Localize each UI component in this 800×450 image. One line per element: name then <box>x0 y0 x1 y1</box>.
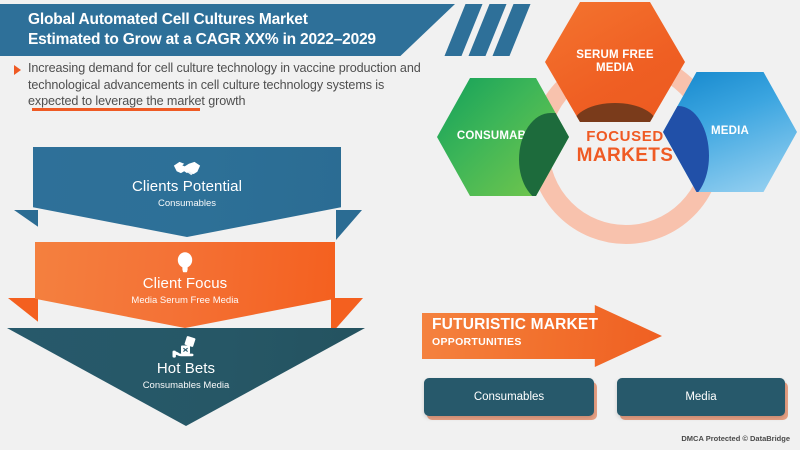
summary-bullet-text: Increasing demand for cell culture techn… <box>28 60 423 110</box>
bottom-box-consumables-wrapper: Consumables <box>424 378 594 416</box>
funnel-layer-1-title: Clients Potential <box>132 178 242 195</box>
futuristic-market-line-2: OPPORTUNITIES <box>432 336 642 348</box>
header-banner <box>0 4 455 56</box>
funnel-layer-client-focus[interactable]: Client Focus Media Serum Free Media <box>35 242 335 328</box>
hexagon-serum-label-line-2: MEDIA <box>596 62 634 74</box>
funnel-layer-1-wing-right <box>336 210 362 240</box>
futuristic-market-line-1: FUTURISTIC MARKET <box>432 316 642 334</box>
summary-bullet: Increasing demand for cell culture techn… <box>14 60 434 110</box>
hexagon-media-label: MEDIA <box>711 125 749 139</box>
handshake-icon <box>172 158 202 178</box>
dmca-footer-note: DMCA Protected © DataBridge <box>681 434 790 443</box>
bottom-box-consumables[interactable]: Consumables <box>424 378 594 416</box>
funnel-layer-3-title: Hot Bets <box>157 360 215 377</box>
infographic-canvas: Global Automated Cell Cultures Market Es… <box>0 0 800 450</box>
focused-markets-line-1: FOCUSED <box>560 128 690 145</box>
lightbulb-icon <box>175 251 195 275</box>
bullet-underline-rule <box>32 108 200 111</box>
funnel-diagram: Clients Potential Consumables Client Foc… <box>0 138 380 428</box>
bottom-box-consumables-label: Consumables <box>474 391 544 403</box>
funnel-layer-2-title: Client Focus <box>143 275 228 292</box>
funnel-layer-1-wing-left <box>14 210 38 238</box>
hexagon-serum-free-media-label: SERUM FREE MEDIA <box>576 49 653 76</box>
funnel-layer-2-wing-left <box>8 298 38 332</box>
focused-markets-line-2: MARKETS <box>560 145 690 166</box>
bottom-box-media[interactable]: Media <box>617 378 785 416</box>
funnel-layer-2-subtitle: Media Serum Free Media <box>131 295 238 306</box>
funnel-layer-clients-potential[interactable]: Clients Potential Consumables <box>33 147 341 237</box>
hand-coin-icon <box>172 336 200 360</box>
funnel-layer-hot-bets[interactable]: Hot Bets Consumables Media <box>7 328 365 426</box>
bullet-arrow-icon <box>14 65 21 75</box>
funnel-layer-1-subtitle: Consumables <box>158 198 216 209</box>
hexagon-serum-label-line-1: SERUM FREE <box>576 49 653 61</box>
focused-markets-center-label: FOCUSED MARKETS <box>560 128 690 166</box>
hexagon-consumables-label: CONSUMABLES <box>457 130 549 144</box>
bottom-box-media-label: Media <box>685 391 716 403</box>
bottom-box-media-wrapper: Media <box>617 378 785 416</box>
futuristic-market-label: FUTURISTIC MARKET OPPORTUNITIES <box>432 316 642 348</box>
funnel-layer-3-subtitle: Consumables Media <box>143 380 230 391</box>
